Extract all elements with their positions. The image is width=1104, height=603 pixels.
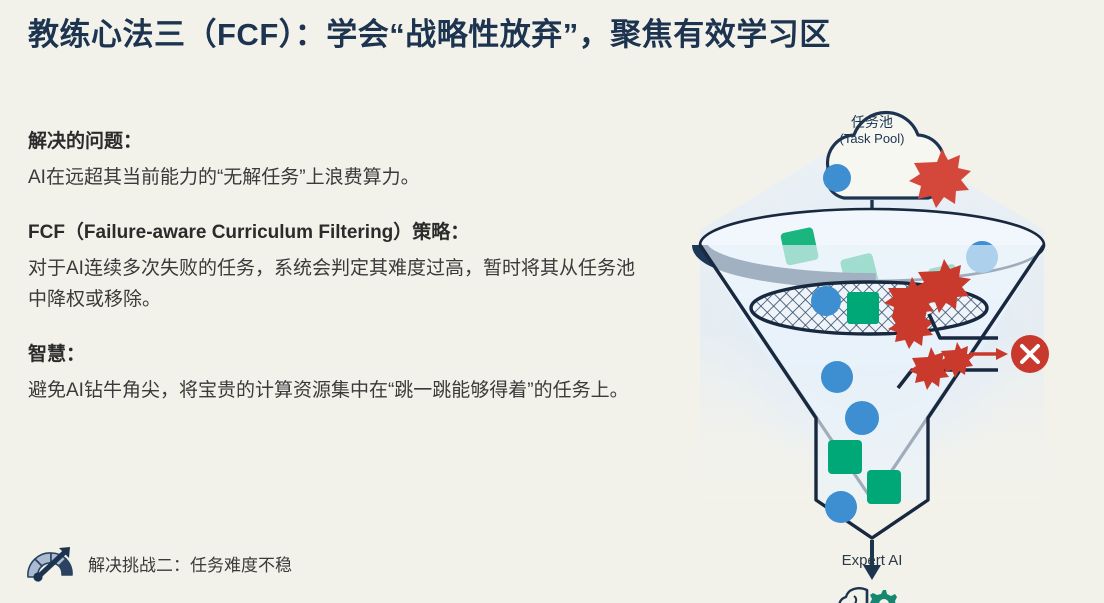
cloud-label-cn: 任务池 — [818, 114, 926, 131]
content-column: 解决的问题： AI在远超其当前能力的“无解任务”上浪费算力。 FCF（Failu… — [28, 128, 638, 407]
slide-root: 教练心法三（FCF）：学会“战略性放弃”，聚焦有效学习区 解决的问题： AI在远… — [0, 0, 1104, 603]
funnel-svg — [640, 70, 1104, 603]
cloud-label: 任务池 (Task Pool) — [818, 114, 926, 146]
footer-tag: 解决挑战二：任务难度不稳 — [24, 541, 292, 588]
block-heading: 解决的问题： — [28, 128, 638, 157]
block-body: 对于AI连续多次失败的任务，系统会判定其难度过高，暂时将其从任务池中降权或移除。 — [28, 254, 638, 316]
block-heading: FCF（Failure-aware Curriculum Filtering）策… — [28, 219, 638, 248]
page-title: 教练心法三（FCF）：学会“战略性放弃”，聚焦有效学习区 — [28, 14, 1028, 56]
content-block-problem: 解决的问题： AI在远超其当前能力的“无解任务”上浪费算力。 — [28, 128, 638, 193]
content-block-strategy: FCF（Failure-aware Curriculum Filtering）策… — [28, 219, 638, 315]
block-heading: 智慧： — [28, 341, 638, 370]
expert-ai-label: Expert AI — [810, 552, 934, 570]
block-body: AI在远超其当前能力的“无解任务”上浪费算力。 — [28, 163, 638, 194]
fcf-funnel-diagram: 任务池 (Task Pool) Expert AI — [640, 70, 1104, 603]
content-block-wisdom: 智慧： 避免AI钻牛角尖，将宝贵的计算资源集中在“跳一跳能够得着”的任务上。 — [28, 341, 638, 406]
block-body: 避免AI钻牛角尖，将宝贵的计算资源集中在“跳一跳能够得着”的任务上。 — [28, 376, 638, 407]
gauge-icon — [24, 541, 78, 588]
brain-gears-icon — [839, 588, 900, 603]
footer-tag-label: 解决挑战二：任务难度不稳 — [88, 555, 292, 574]
cloud-label-en: (Task Pool) — [818, 131, 926, 146]
